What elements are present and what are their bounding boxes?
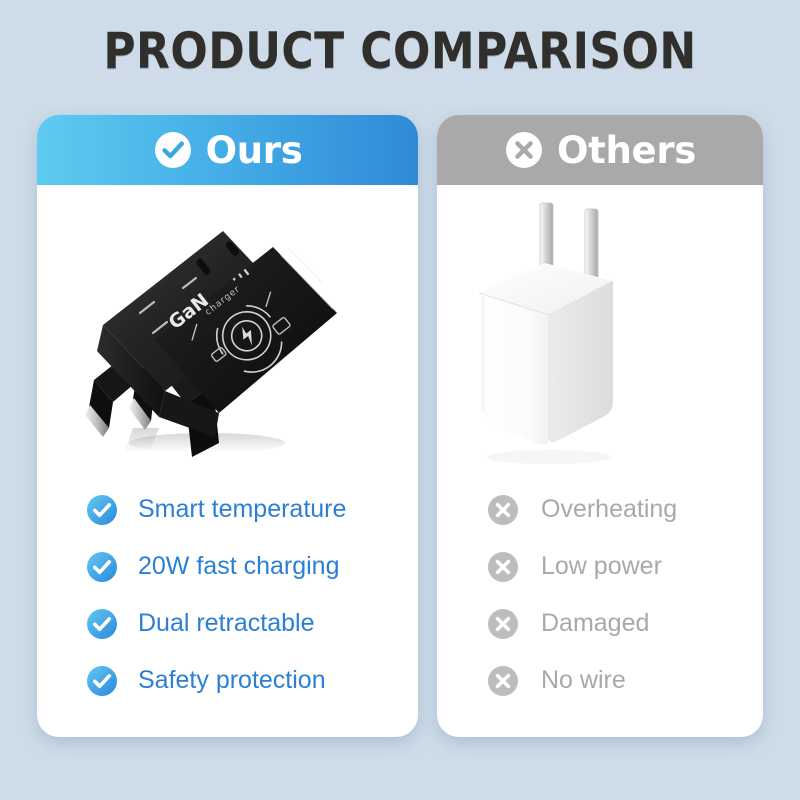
- list-item: Damaged: [437, 595, 763, 652]
- list-item: Overheating: [437, 481, 763, 538]
- ours-card-header: Ours: [37, 115, 418, 185]
- list-item: Dual retractable: [37, 595, 418, 652]
- check-circle-icon: [153, 130, 193, 170]
- ours-card: Ours: [37, 115, 418, 737]
- list-item-label: Damaged: [541, 611, 649, 636]
- list-item-label: Dual retractable: [138, 611, 314, 636]
- list-item-label: No wire: [541, 668, 626, 693]
- page-title: PRODUCT COMPARISON: [48, 22, 752, 80]
- list-item-label: Safety protection: [138, 668, 326, 693]
- white-charger-illustration: [437, 185, 763, 477]
- list-item-label: Smart temperature: [138, 497, 346, 522]
- list-item: No wire: [437, 652, 763, 709]
- black-gan-charger-illustration: GaN W20 charger: [37, 185, 418, 477]
- x-circle-icon: [504, 130, 544, 170]
- others-card: Others: [437, 115, 763, 737]
- list-item-label: Overheating: [541, 497, 677, 522]
- others-product-image: [437, 185, 763, 477]
- x-circle-icon: [487, 494, 519, 526]
- check-circle-icon: [86, 551, 118, 583]
- comparison-cards: Ours: [37, 115, 763, 737]
- x-circle-icon: [487, 551, 519, 583]
- list-item-label: Low power: [541, 554, 662, 579]
- x-circle-icon: [487, 608, 519, 640]
- list-item-label: 20W fast charging: [138, 554, 340, 579]
- ours-feature-list: Smart temperature 20W fast charging Dual…: [37, 477, 418, 737]
- others-card-header: Others: [437, 115, 763, 185]
- check-circle-icon: [86, 608, 118, 640]
- list-item: Low power: [437, 538, 763, 595]
- ours-product-image: GaN W20 charger: [37, 185, 418, 477]
- list-item: 20W fast charging: [37, 538, 418, 595]
- check-circle-icon: [86, 665, 118, 697]
- list-item: Smart temperature: [37, 481, 418, 538]
- others-feature-list: Overheating Low power Damaged: [437, 477, 763, 737]
- ours-header-label: Ours: [206, 132, 303, 169]
- others-header-label: Others: [557, 132, 696, 169]
- check-circle-icon: [86, 494, 118, 526]
- x-circle-icon: [487, 665, 519, 697]
- list-item: Safety protection: [37, 652, 418, 709]
